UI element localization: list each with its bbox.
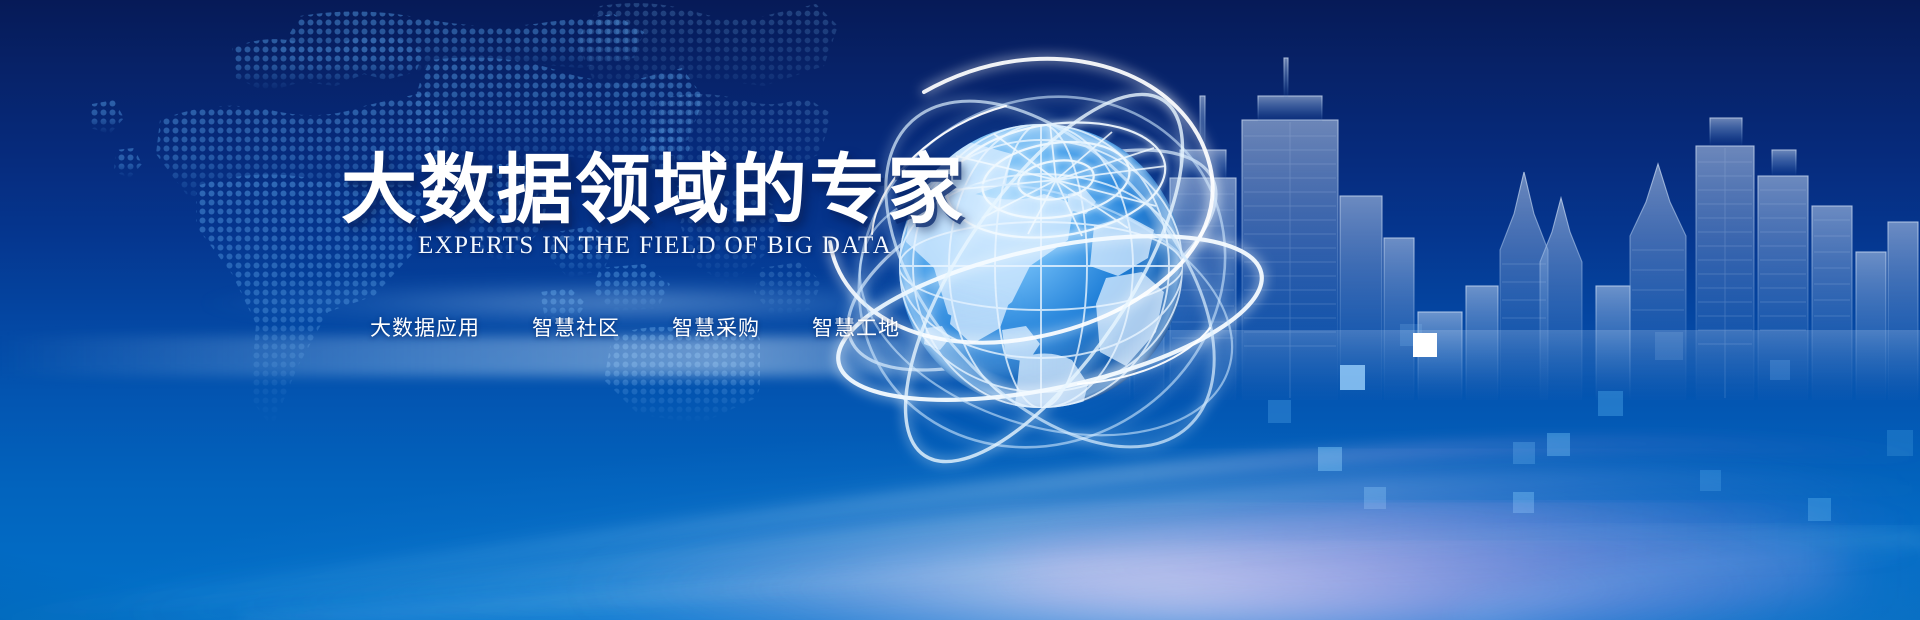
big-data-banner: 大数据领域的专家 EXPERTS IN THE FIELD OF BIG DAT… (0, 0, 1920, 620)
banner-copy: 大数据领域的专家 EXPERTS IN THE FIELD OF BIG DAT… (0, 0, 1000, 620)
keyword-item-3[interactable]: 智慧工地 (812, 312, 900, 342)
keyword-item-0[interactable]: 大数据应用 (370, 312, 480, 342)
keyword-item-1[interactable]: 智慧社区 (532, 312, 620, 342)
keyword-list: 大数据应用 智慧社区 智慧采购 智慧工地 (370, 312, 900, 342)
page-title: 大数据领域的专家 (341, 152, 965, 228)
keyword-item-2[interactable]: 智慧采购 (672, 312, 760, 342)
subtitle: EXPERTS IN THE FIELD OF BIG DATA (418, 232, 892, 260)
